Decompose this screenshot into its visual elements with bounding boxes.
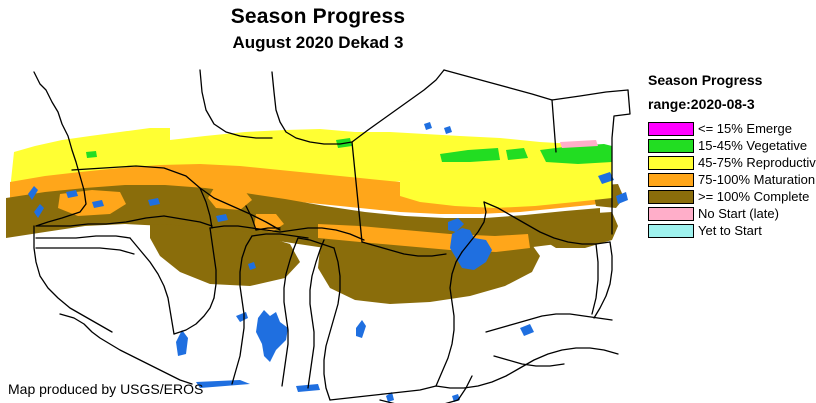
legend-row[interactable]: 45-75% Reproductive [648,154,816,171]
legend-row[interactable]: No Start (late) [648,205,816,222]
map-credit: Map produced by USGS/EROS [8,381,203,398]
legend-items: <= 15% Emerge15-45% Vegetative45-75% Rep… [648,120,816,239]
legend-label: <= 15% Emerge [698,122,792,136]
legend-swatch [648,207,694,221]
map-panel[interactable] [0,66,636,403]
page-title: Season Progress [0,4,636,30]
zone-vegetative-west [86,151,97,158]
legend: Season Progress range:2020-08-3 <= 15% E… [648,72,816,239]
legend-label: Yet to Start [698,224,762,238]
legend-row[interactable]: Yet to Start [648,222,816,239]
season-progress-map[interactable] [0,66,636,403]
legend-range: range:2020-08-3 [648,96,816,113]
legend-label: No Start (late) [698,207,779,221]
title-block: Season Progress August 2020 Dekad 3 [0,4,636,54]
legend-label: 45-75% Reproductive [698,156,816,170]
legend-swatch [648,139,694,153]
legend-label: >= 100% Complete [698,190,809,204]
legend-title: Season Progress [648,72,816,89]
legend-swatch [648,122,694,136]
legend-swatch [648,190,694,204]
legend-row[interactable]: >= 100% Complete [648,188,816,205]
legend-swatch [648,173,694,187]
legend-row[interactable]: <= 15% Emerge [648,120,816,137]
legend-label: 15-45% Vegetative [698,139,807,153]
zone-vegetative-a [506,148,528,160]
legend-swatch [648,224,694,238]
legend-swatch [648,156,694,170]
legend-row[interactable]: 75-100% Maturation [648,171,816,188]
page-subtitle: August 2020 Dekad 3 [0,31,636,54]
legend-label: 75-100% Maturation [698,173,815,187]
legend-row[interactable]: 15-45% Vegetative [648,137,816,154]
